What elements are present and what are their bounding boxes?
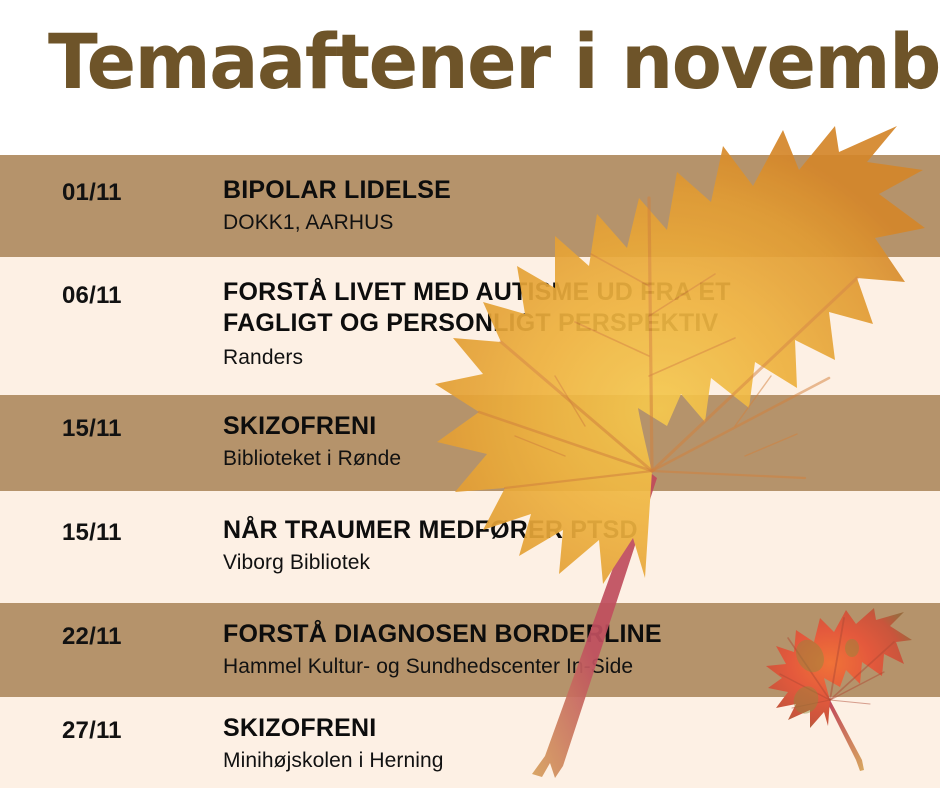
- poster-canvas: Temaaftener i november 01/11BIPOLAR LIDE…: [0, 0, 940, 788]
- header-band: Temaaftener i november: [0, 0, 940, 155]
- event-venue: Hammel Kultur- og Sundhedscenter In-Side: [223, 655, 633, 679]
- event-venue: Minihøjskolen i Herning: [223, 749, 444, 773]
- event-venue: Viborg Bibliotek: [223, 551, 370, 575]
- event-title-line: SKIZOFRENI: [223, 713, 376, 744]
- event-title-line: FORSTÅ DIAGNOSEN BORDERLINE: [223, 619, 662, 650]
- schedule-row: 06/11FORSTÅ LIVET MED AUTISME UD FRA ETF…: [0, 257, 940, 395]
- event-title: SKIZOFRENI: [223, 713, 376, 744]
- event-date: 15/11: [62, 519, 122, 547]
- event-venue: Biblioteket i Rønde: [223, 447, 401, 471]
- event-date: 06/11: [62, 282, 122, 310]
- event-title-line: BIPOLAR LIDELSE: [223, 175, 451, 206]
- event-venue: DOKK1, AARHUS: [223, 211, 394, 235]
- schedule-row: 01/11BIPOLAR LIDELSEDOKK1, AARHUS: [0, 155, 940, 257]
- event-title: SKIZOFRENI: [223, 411, 376, 442]
- event-date: 22/11: [62, 623, 122, 651]
- event-title-line: NÅR TRAUMER MEDFØRER PTSD: [223, 515, 638, 546]
- event-date: 01/11: [62, 179, 122, 207]
- event-title: NÅR TRAUMER MEDFØRER PTSD: [223, 515, 638, 546]
- event-venue: Randers: [223, 346, 303, 370]
- event-date: 15/11: [62, 415, 122, 443]
- page-title: Temaaftener i november: [48, 24, 940, 100]
- schedule-row: 22/11FORSTÅ DIAGNOSEN BORDERLINEHammel K…: [0, 603, 940, 697]
- schedule-row: 15/11NÅR TRAUMER MEDFØRER PTSDViborg Bib…: [0, 491, 940, 603]
- event-title: FORSTÅ DIAGNOSEN BORDERLINE: [223, 619, 662, 650]
- event-title-line: FORSTÅ LIVET MED AUTISME UD FRA ET: [223, 277, 731, 308]
- schedule-row: 15/11SKIZOFRENIBiblioteket i Rønde: [0, 395, 940, 491]
- event-title-line: FAGLIGT OG PERSONLIGT PERSPEKTIV: [223, 308, 731, 339]
- event-title: BIPOLAR LIDELSE: [223, 175, 451, 206]
- event-title: FORSTÅ LIVET MED AUTISME UD FRA ETFAGLIG…: [223, 277, 731, 338]
- event-title-line: SKIZOFRENI: [223, 411, 376, 442]
- event-date: 27/11: [62, 717, 122, 745]
- schedule-row: 27/11SKIZOFRENIMinihøjskolen i Herning: [0, 697, 940, 788]
- schedule-list: 01/11BIPOLAR LIDELSEDOKK1, AARHUS06/11FO…: [0, 155, 940, 788]
